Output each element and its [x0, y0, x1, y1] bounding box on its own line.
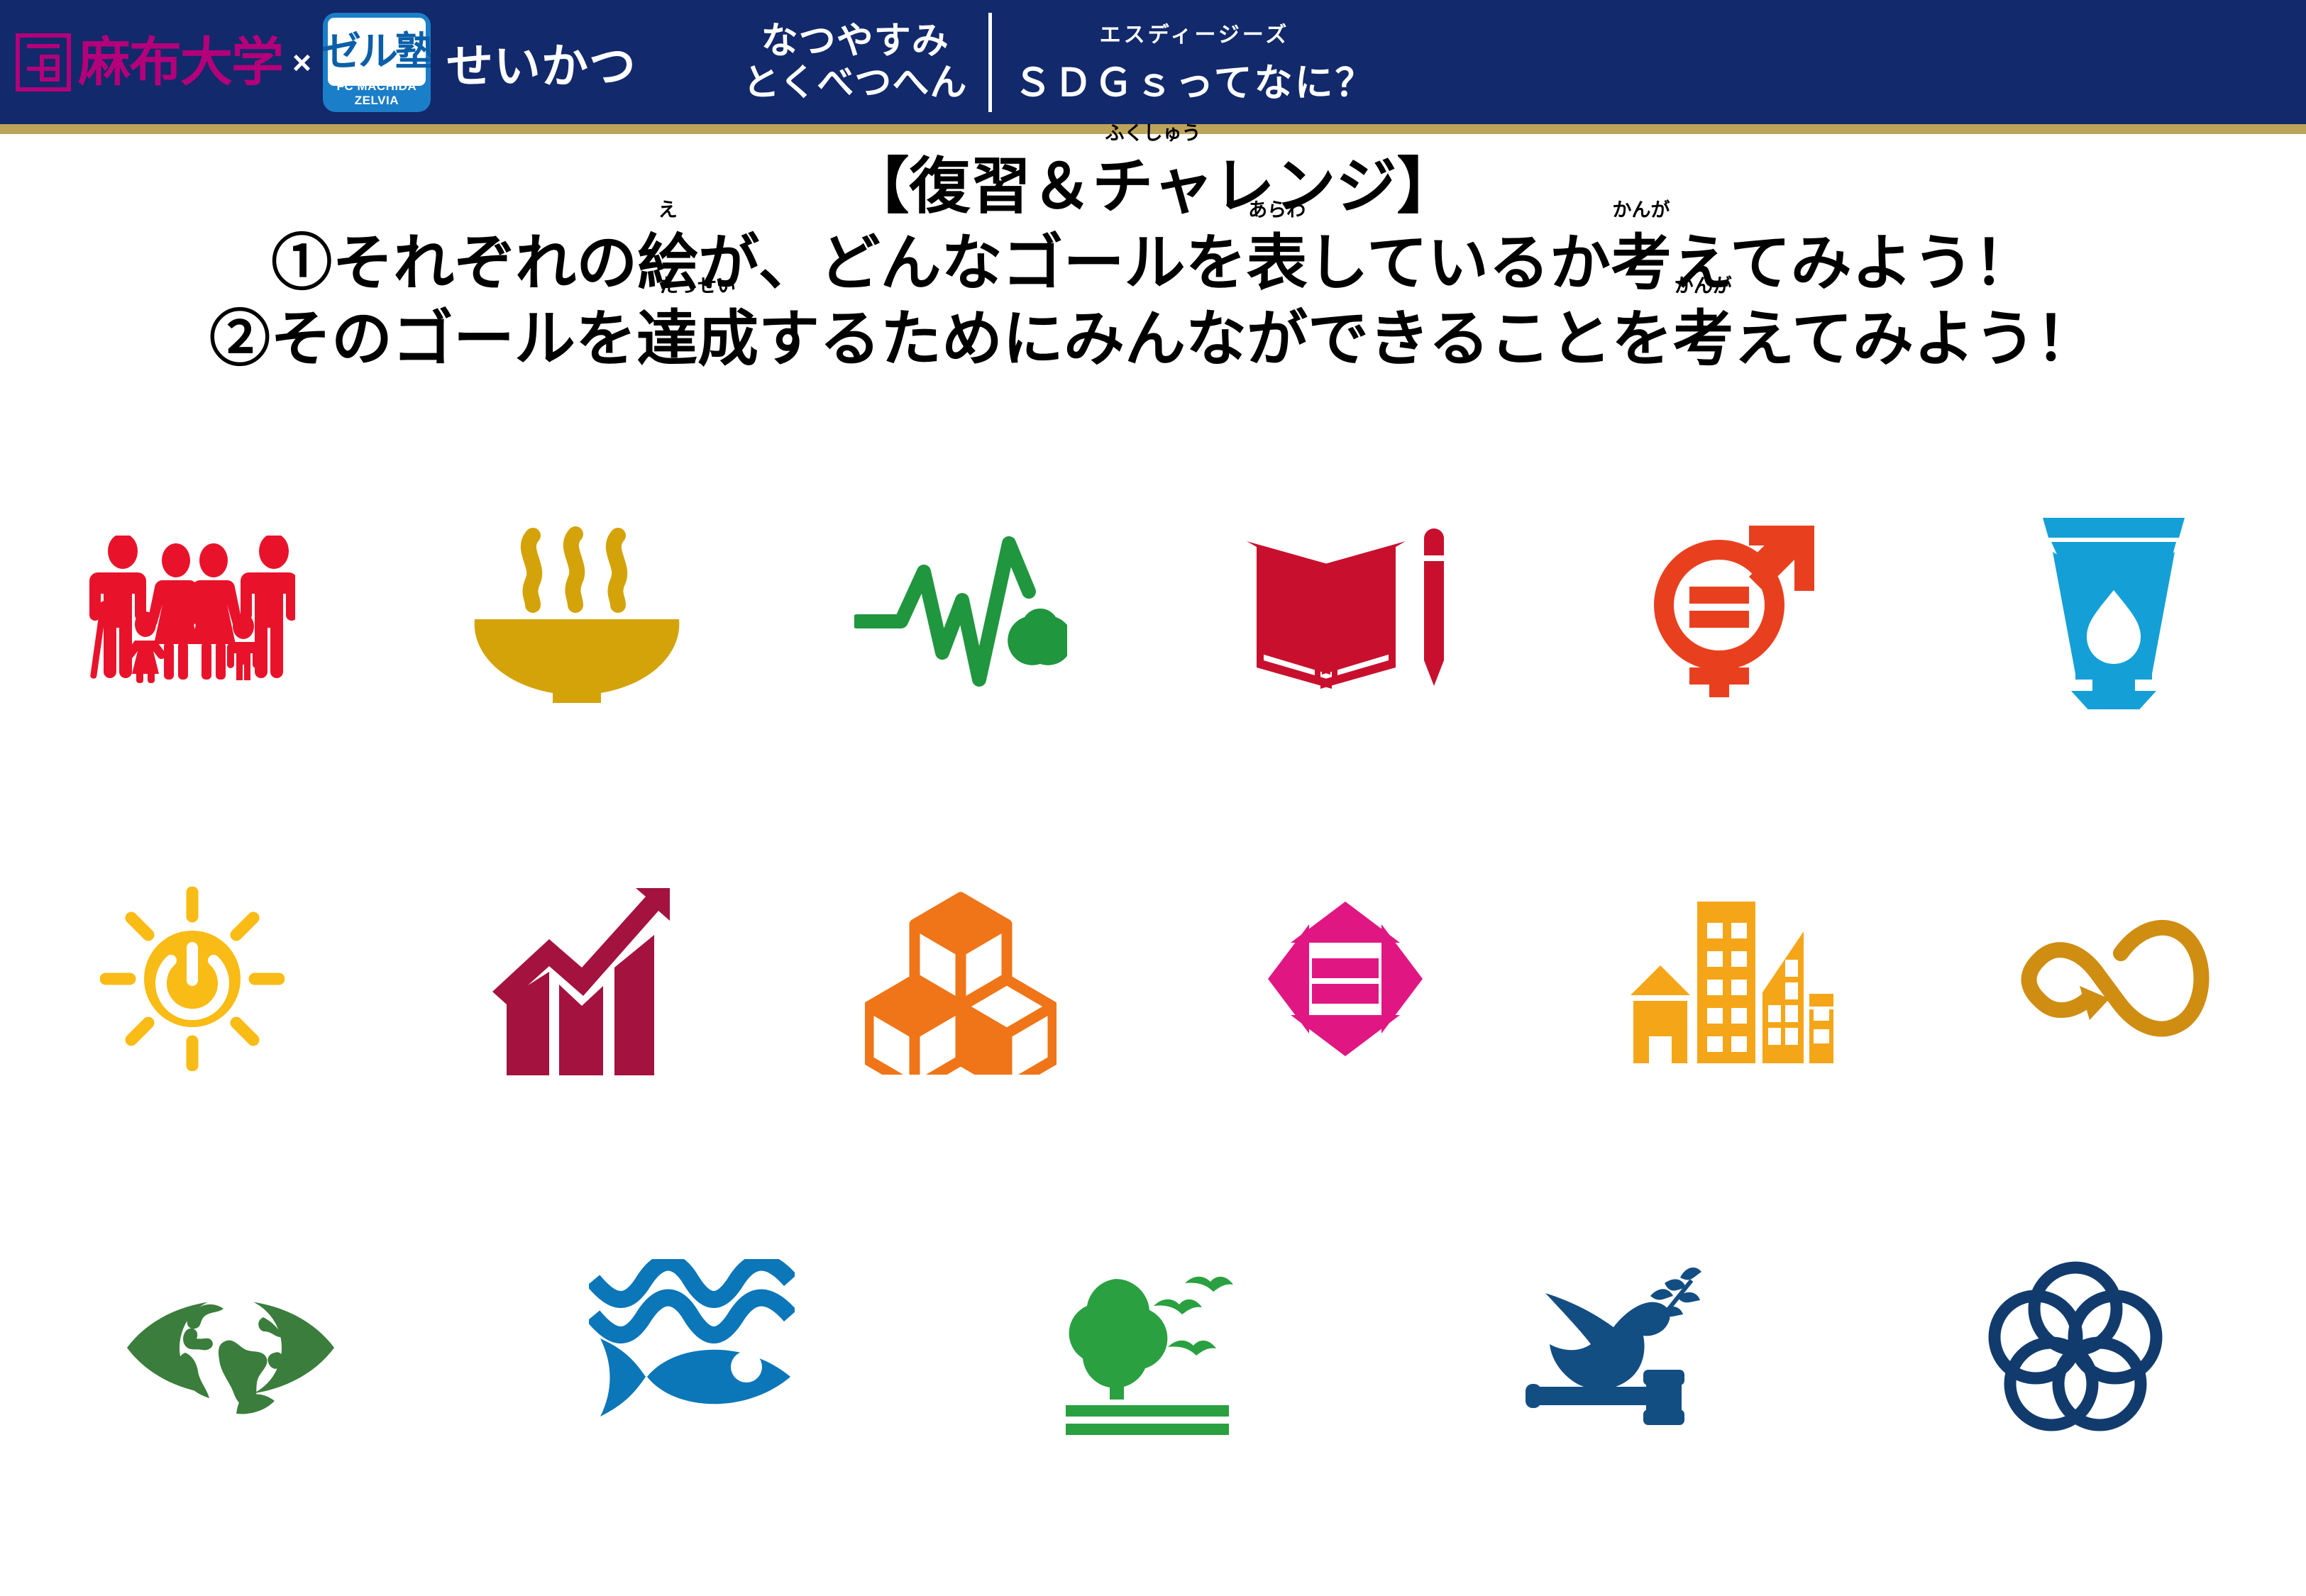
header-brand-group: 麻布大学 × ゼル塾 FC MACHIDA ZELVIA せいかつ [0, 0, 636, 124]
summer-line-2: とくべつへん [743, 62, 967, 104]
five-circles-partnership-icon [1983, 1259, 2168, 1436]
steaming-bowl-icon [470, 514, 683, 706]
sdgs-title: ＳＤＧｓってなに？ [1013, 51, 1375, 107]
sdg-icon-cell-11[interactable] [1538, 794, 1922, 1163]
line1-ruby-base-2: 表 [1247, 229, 1308, 297]
line1-ruby-2: あらわ [1248, 199, 1306, 223]
sdg-icon-cell-4[interactable] [1153, 426, 1538, 794]
line2-suffix: えてみよう！ [1733, 305, 2097, 373]
line2-ruby-1: たっせい [659, 275, 736, 299]
sdgs-title-group: エスディージーズ ＳＤＧｓってなに？ [1013, 17, 1375, 107]
sdgs-kana-label: エスディージーズ [1013, 17, 1375, 48]
three-cubes-icon [865, 883, 1057, 1075]
line1-ruby-base-3: 考 [1611, 229, 1672, 297]
line1-mid: が、どんなゴールを [698, 229, 1246, 297]
section-heading: ふくしゅう 【復習＆チャレンジ】 [0, 149, 2306, 226]
instructions-block: ふくしゅう 【復習＆チャレンジ】 ①それぞれのえ絵が、どんなゴールをあらわ表して… [0, 149, 2306, 378]
sdg-icon-row-1 [0, 426, 2306, 794]
zelvia-logo-plate: ゼル塾 [328, 18, 426, 86]
family-people-icon [89, 536, 295, 685]
sdg-icon-cell-13[interactable] [0, 1163, 461, 1532]
fish-waves-icon [589, 1259, 795, 1436]
sdg-icon-cell-6[interactable] [1921, 426, 2306, 794]
line2-ruby-base-1: 達成 [636, 305, 758, 373]
sdg-icon-cell-8[interactable] [385, 794, 769, 1163]
line2-ruby-base-2: 考 [1672, 305, 1733, 373]
dove-gavel-icon [1518, 1259, 1710, 1436]
open-book-pencil-icon [1242, 528, 1448, 692]
sdg-icon-cell-17[interactable] [1845, 1163, 2306, 1532]
city-buildings-icon [1623, 890, 1836, 1068]
gender-equality-icon [1641, 521, 1819, 699]
summer-line-1: なつやすみ [743, 21, 967, 62]
sdg-icon-cell-2[interactable] [385, 426, 769, 794]
line1-ruby-3: かんが [1613, 199, 1670, 223]
program-label: せいかつ [446, 28, 636, 96]
sdg-icon-cell-7[interactable] [0, 794, 385, 1163]
heading-text: 【復習＆チャレンジ】 [848, 153, 1457, 221]
line1-ruby-1: え [658, 199, 678, 223]
university-name: 麻布大学 [78, 36, 282, 89]
sdg-icon-grid [0, 426, 2306, 1561]
line1-prefix: ①それぞれの [271, 229, 637, 297]
instruction-line-1: ①それぞれのえ絵が、どんなゴールをあらわ表しているかかんが考えてみよう！ [0, 226, 2306, 302]
heartbeat-pulse-icon [854, 532, 1067, 688]
infinity-loop-arrow-icon [2014, 915, 2213, 1043]
sdg-icon-cell-1[interactable] [0, 426, 385, 794]
sun-power-button-icon [100, 887, 285, 1071]
page-header: 麻布大学 × ゼル塾 FC MACHIDA ZELVIA せいかつ なつやすみ … [0, 0, 2306, 124]
tree-birds-icon [1050, 1259, 1256, 1436]
sdg-icon-cell-3[interactable] [768, 426, 1153, 794]
eye-globe-icon [124, 1273, 337, 1422]
sdg-icon-cell-15[interactable] [922, 1163, 1384, 1532]
sdg-icon-cell-5[interactable] [1538, 426, 1922, 794]
sdg-icon-row-3 [0, 1163, 2306, 1532]
line2-prefix: ②そのゴールを [209, 305, 636, 373]
line2-mid: するためにみんなができることを [758, 305, 1672, 373]
zelvia-logo-kanji: ゼル塾 [323, 32, 431, 72]
growth-bar-chart-icon [481, 880, 673, 1078]
zelvia-logo-subtitle: FC MACHIDA ZELVIA [323, 79, 431, 108]
sdg-icon-cell-12[interactable] [1921, 794, 2306, 1163]
sdg-icon-cell-16[interactable] [1384, 1163, 1845, 1532]
line1-mid-2: しているか [1308, 229, 1611, 297]
sdg-icon-cell-10[interactable] [1153, 794, 1538, 1163]
water-glass-drop-icon [2036, 511, 2192, 709]
sdg-icon-row-2 [0, 794, 2306, 1163]
heading-ruby: ふくしゅう [1105, 122, 1201, 146]
azabu-university-crest-icon [16, 33, 71, 92]
times-symbol: × [292, 43, 311, 82]
instruction-line-2: ②そのゴールをたっせい達成するためにみんなができることをかんが考えてみよう！ [0, 301, 2306, 378]
line2-ruby-2: かんが [1675, 275, 1732, 299]
equality-arrows-icon [1257, 890, 1434, 1068]
sdg-icon-cell-9[interactable] [768, 794, 1153, 1163]
summer-special-label: なつやすみ とくべつへん [743, 21, 967, 103]
zelvia-logo: ゼル塾 FC MACHIDA ZELVIA [323, 13, 431, 112]
header-divider [988, 13, 992, 112]
header-topic-group: なつやすみ とくべつへん エスディージーズ ＳＤＧｓってなに？ [743, 13, 1376, 112]
sdg-icon-cell-14[interactable] [461, 1163, 922, 1532]
